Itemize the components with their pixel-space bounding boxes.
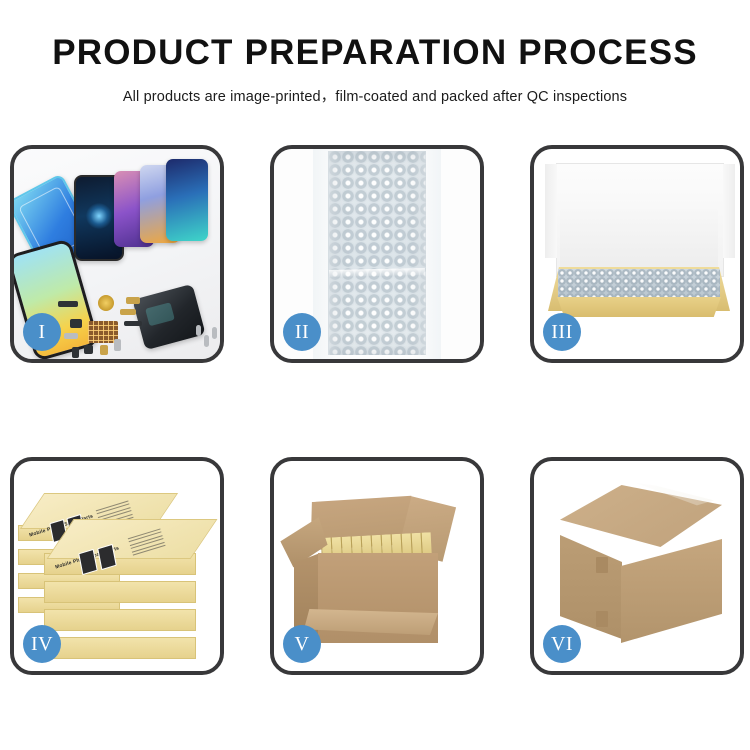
spare-part bbox=[58, 301, 78, 307]
step-badge-6: VI bbox=[543, 625, 581, 663]
spare-screw bbox=[204, 335, 209, 347]
spare-part bbox=[100, 345, 108, 355]
spare-screw bbox=[196, 325, 201, 336]
step-badge-3: III bbox=[543, 313, 581, 351]
carton-tab bbox=[596, 611, 608, 627]
phone-display-teal bbox=[166, 159, 208, 241]
retail-box bbox=[44, 637, 196, 659]
step-badge-4: IV bbox=[23, 625, 61, 663]
process-step-card-4[interactable]: Mobile Phone Spare Parts Mobile Phone Sp… bbox=[10, 457, 224, 675]
spare-part bbox=[114, 339, 121, 351]
speaker-coil-part bbox=[98, 295, 114, 311]
spare-part bbox=[124, 321, 142, 326]
spare-part bbox=[72, 347, 79, 358]
process-step-card-6[interactable]: Outer carton sealed and ready for shipme… bbox=[530, 457, 744, 675]
page-title: PRODUCT PREPARATION PROCESS bbox=[0, 34, 750, 73]
process-step-card-1[interactable]: Mobile phone screens, display assemblies… bbox=[10, 145, 224, 363]
spare-part bbox=[84, 345, 93, 354]
mailer-box-front-wall bbox=[550, 297, 728, 317]
spare-part bbox=[70, 319, 82, 328]
process-step-card-5[interactable]: Boxes loaded into outer shipping carton … bbox=[270, 457, 484, 675]
spare-part bbox=[64, 333, 78, 339]
process-step-grid: Mobile phone screens, display assemblies… bbox=[0, 145, 750, 675]
step-badge-2: II bbox=[283, 313, 321, 351]
spare-part bbox=[120, 309, 136, 315]
bubble-wrapped-product bbox=[558, 269, 720, 299]
process-step-card-2[interactable]: Product wrapped in bubble film II bbox=[270, 145, 484, 363]
retail-box bbox=[44, 609, 196, 631]
step-badge-5: V bbox=[283, 625, 321, 663]
mailer-foam-liner bbox=[560, 209, 718, 271]
page-subtitle: All products are image-printed，film-coat… bbox=[0, 85, 750, 106]
carton-tab bbox=[596, 557, 608, 573]
process-step-card-3[interactable]: Bubble-wrapped product placed in kraft m… bbox=[530, 145, 744, 363]
step-badge-1: I bbox=[23, 313, 61, 351]
spare-part bbox=[126, 297, 140, 304]
retail-box bbox=[44, 581, 196, 603]
bubble-wrap-edge-shading bbox=[313, 149, 441, 359]
page-header: PRODUCT PREPARATION PROCESS All products… bbox=[0, 0, 750, 106]
spare-screw bbox=[212, 327, 217, 339]
